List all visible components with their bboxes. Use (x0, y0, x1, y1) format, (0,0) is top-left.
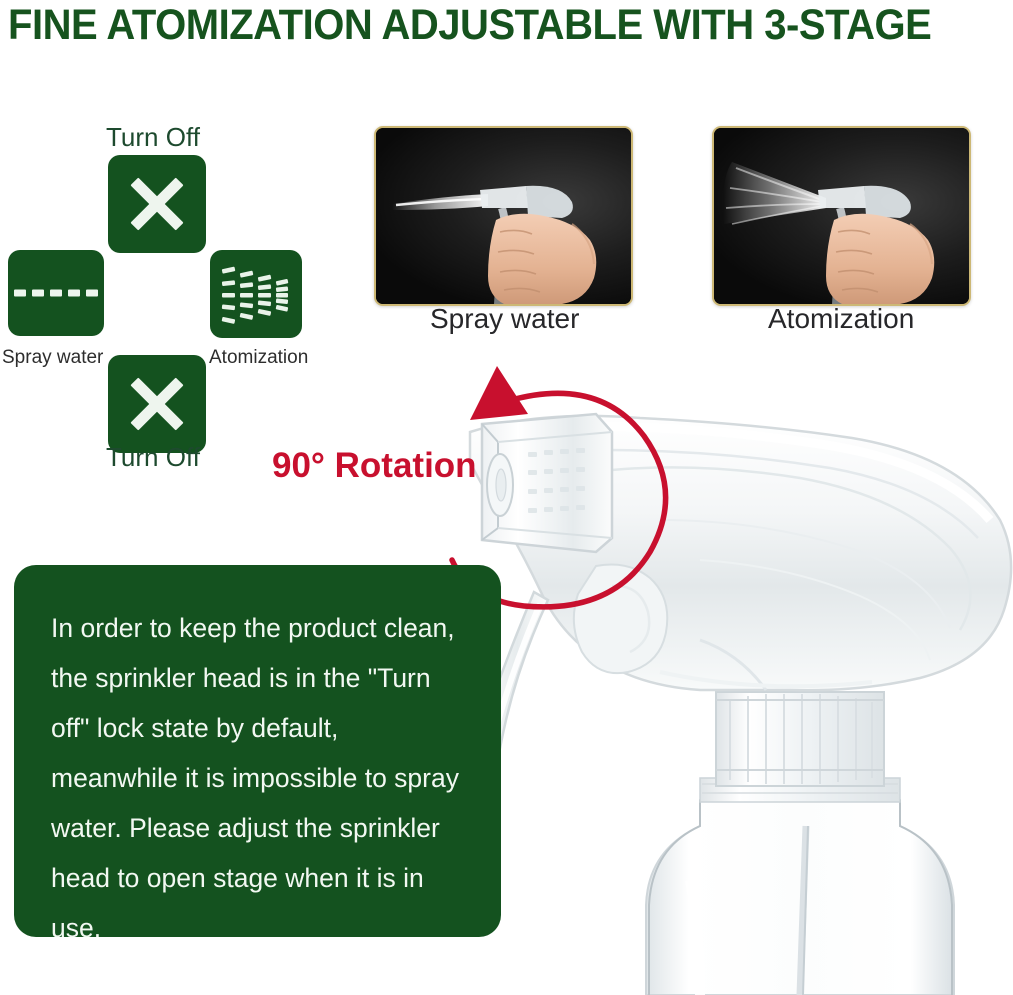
spray-water-tile-label: Spray water (2, 347, 103, 369)
dashed-line-icon (8, 290, 104, 297)
rotation-label: 90° Rotation (272, 446, 477, 486)
infographic-canvas: FINE ATOMIZATION ADJUSTABLE WITH 3-STAGE (0, 0, 1013, 995)
atomization-tile-label: Atomization (209, 347, 308, 369)
turn-off-bottom-tile[interactable] (108, 355, 206, 453)
turn-off-top-tile[interactable] (108, 155, 206, 253)
atomization-photo[interactable] (712, 126, 971, 306)
spray-water-tile[interactable] (8, 250, 104, 336)
atomization-caption: Atomization (768, 303, 914, 335)
atomization-tile[interactable] (210, 250, 302, 338)
mist-fan-icon (210, 250, 302, 338)
spray-water-caption: Spray water (430, 303, 579, 335)
page-title: FINE ATOMIZATION ADJUSTABLE WITH 3-STAGE (8, 2, 929, 48)
info-panel-text: In order to keep the product clean, the … (51, 603, 471, 953)
spray-mode-icon-cluster: Turn Off (0, 110, 330, 480)
turn-off-bottom-label: Turn Off (106, 442, 200, 473)
spray-water-photo[interactable] (374, 126, 633, 306)
info-panel: In order to keep the product clean, the … (14, 565, 501, 937)
turn-off-top-label: Turn Off (106, 122, 200, 153)
